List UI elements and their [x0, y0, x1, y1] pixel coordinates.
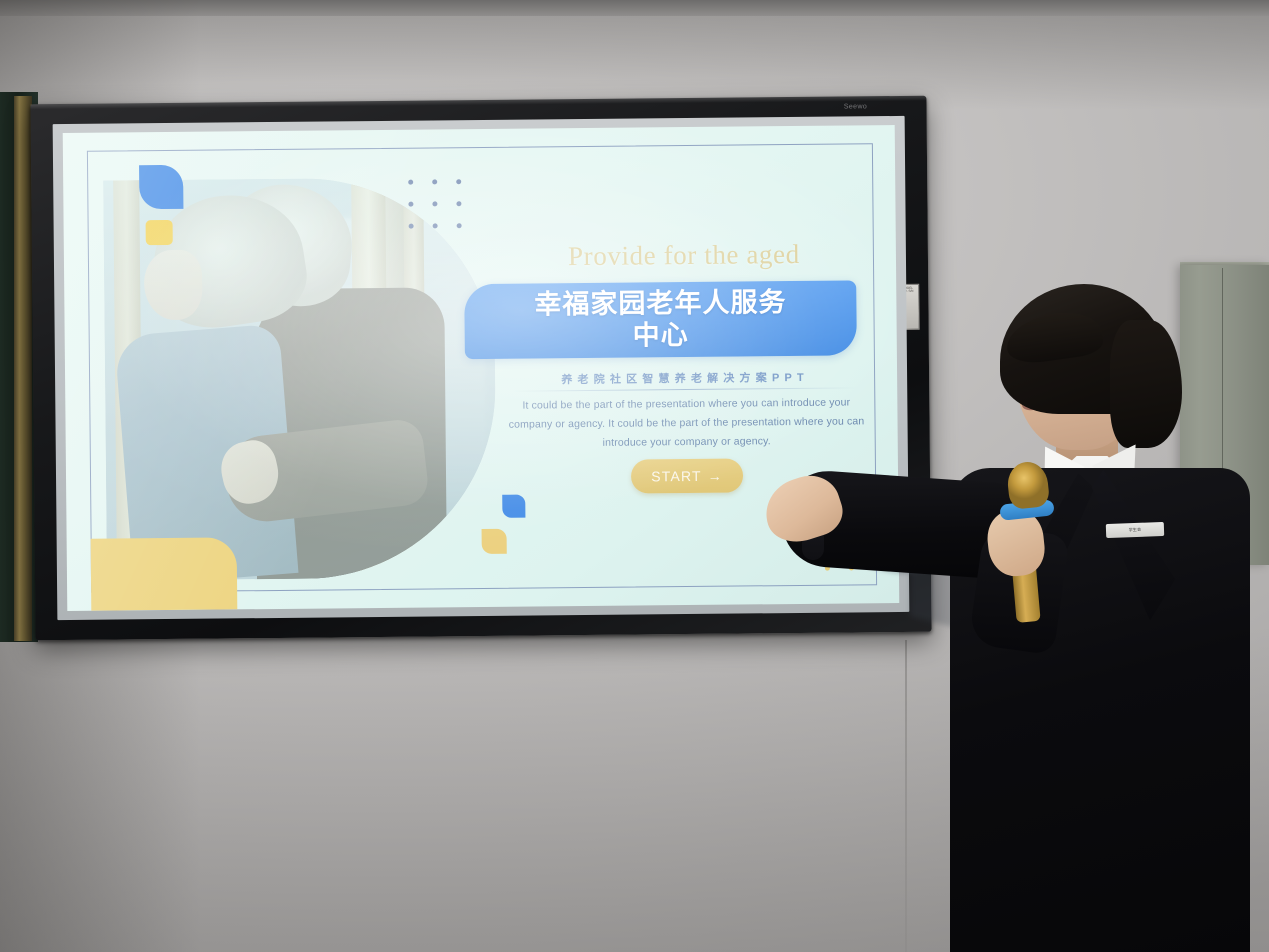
presentation-room-photo: Seewo MODEL NO. S/N: [0, 0, 1269, 952]
slide-title-text: 幸福家园老年人服务 中心: [534, 287, 787, 352]
presenter-hair-side: [1110, 320, 1182, 448]
decor-blue-leaf-small: [502, 495, 525, 518]
slide-eyebrow-title: Provide for the aged: [509, 238, 859, 272]
decor-yellow-leaf-small: [482, 529, 507, 554]
arrow-right-icon: →: [708, 468, 723, 484]
start-button[interactable]: START →: [631, 458, 743, 493]
presenter: 学生会: [760, 280, 1269, 952]
name-badge: 学生会: [1106, 522, 1164, 538]
decor-blue-leaf-large: [139, 165, 183, 209]
wooden-trim-strip: [14, 96, 32, 641]
slide-title-line1: 幸福家园老年人服务: [534, 287, 786, 321]
decor-yellow-block: [91, 537, 238, 610]
brand-logo: Seewo: [820, 99, 890, 114]
decor-yellow-square: [146, 220, 173, 245]
slide-inner-border: [87, 143, 877, 593]
start-button-label: START: [651, 468, 702, 484]
decor-dot-grid: [408, 179, 469, 240]
slide-title-line2: 中心: [535, 319, 787, 353]
